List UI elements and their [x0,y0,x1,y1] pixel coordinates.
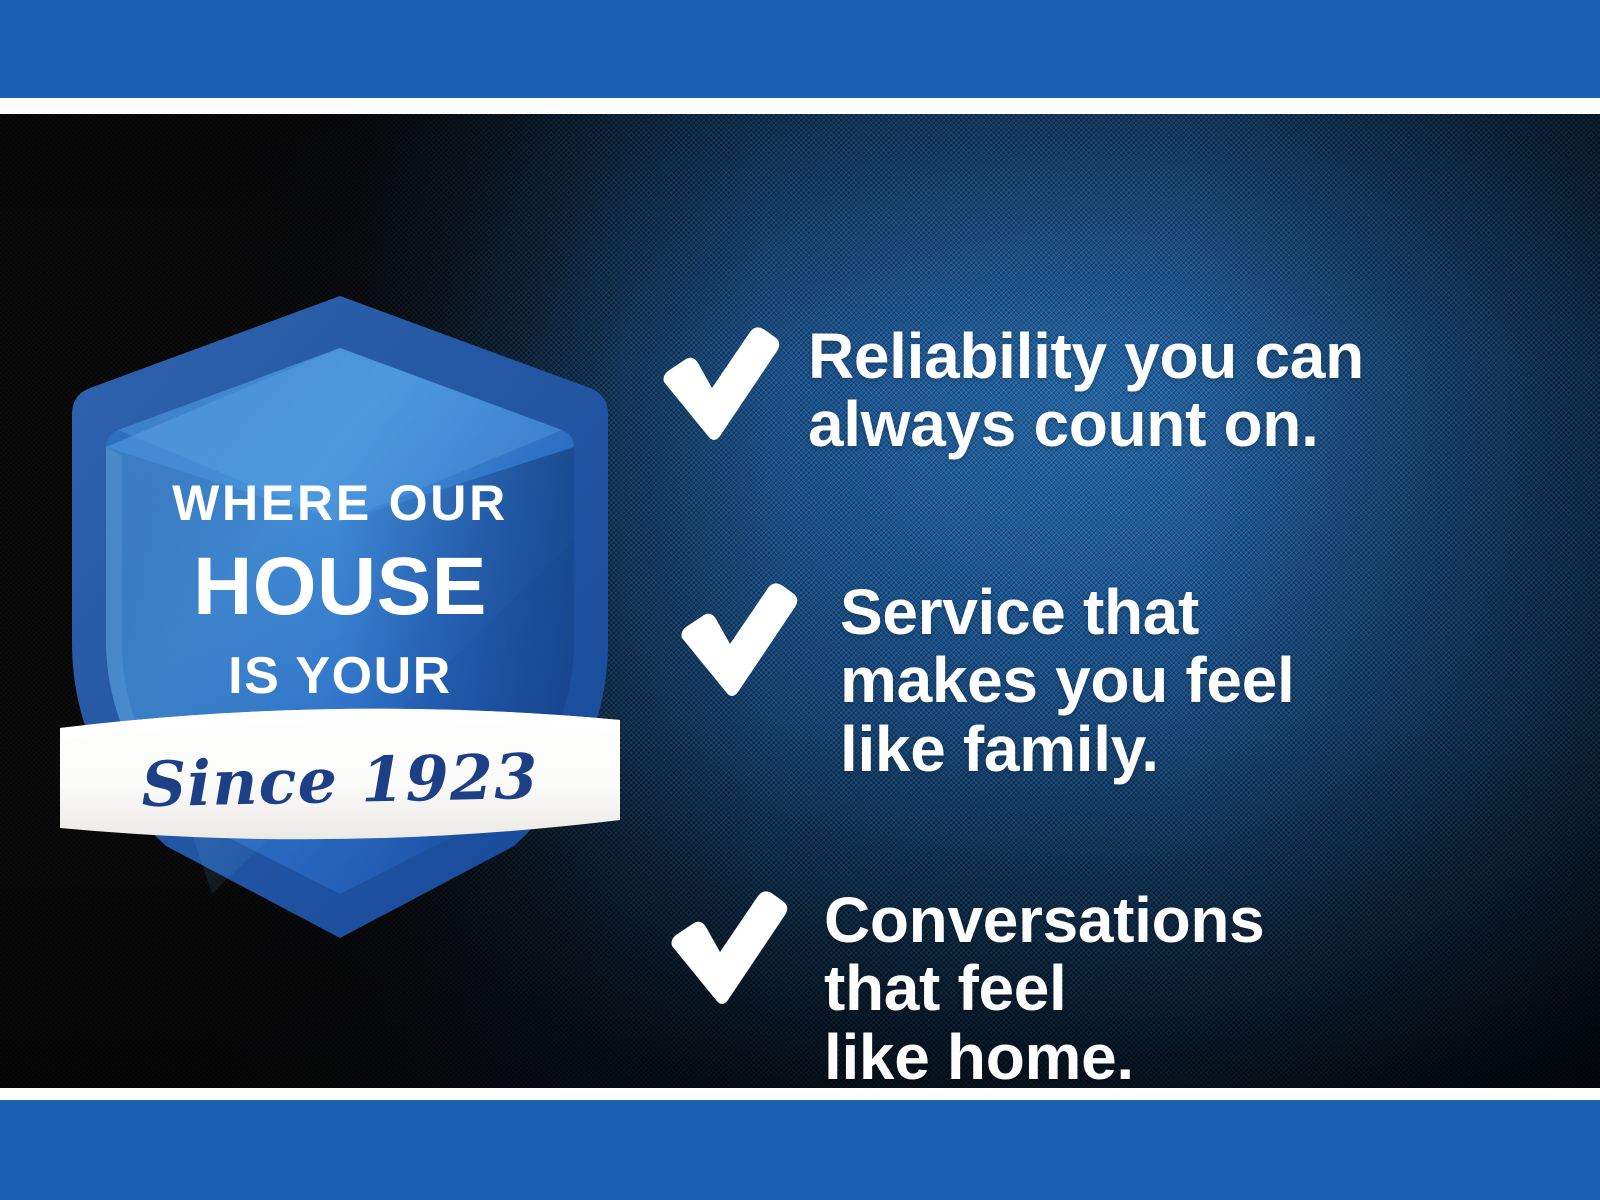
list-item-text: Service that makes you feel like family. [840,578,1294,783]
content-stage: WHERE OUR HOUSE IS YOUR HOUSE [0,114,1600,1088]
shield-badge: WHERE OUR HOUSE IS YOUR HOUSE [62,290,618,940]
list-item: Service that makes you feel like family. [678,578,1294,783]
check-icon [678,582,798,700]
list-item: Reliability you can always count on. [660,322,1364,459]
list-item-text: Reliability you can always count on. [808,322,1364,459]
top-brand-bar [0,0,1600,98]
check-icon [660,326,780,444]
shield-graphic [62,290,618,940]
check-icon [668,890,788,1008]
list-item-text: Conversations that feel like home. [824,886,1264,1088]
bottom-brand-bar [0,1100,1600,1200]
promo-graphic: WHERE OUR HOUSE IS YOUR HOUSE [0,0,1600,1200]
list-item: Conversations that feel like home. [668,886,1264,1088]
